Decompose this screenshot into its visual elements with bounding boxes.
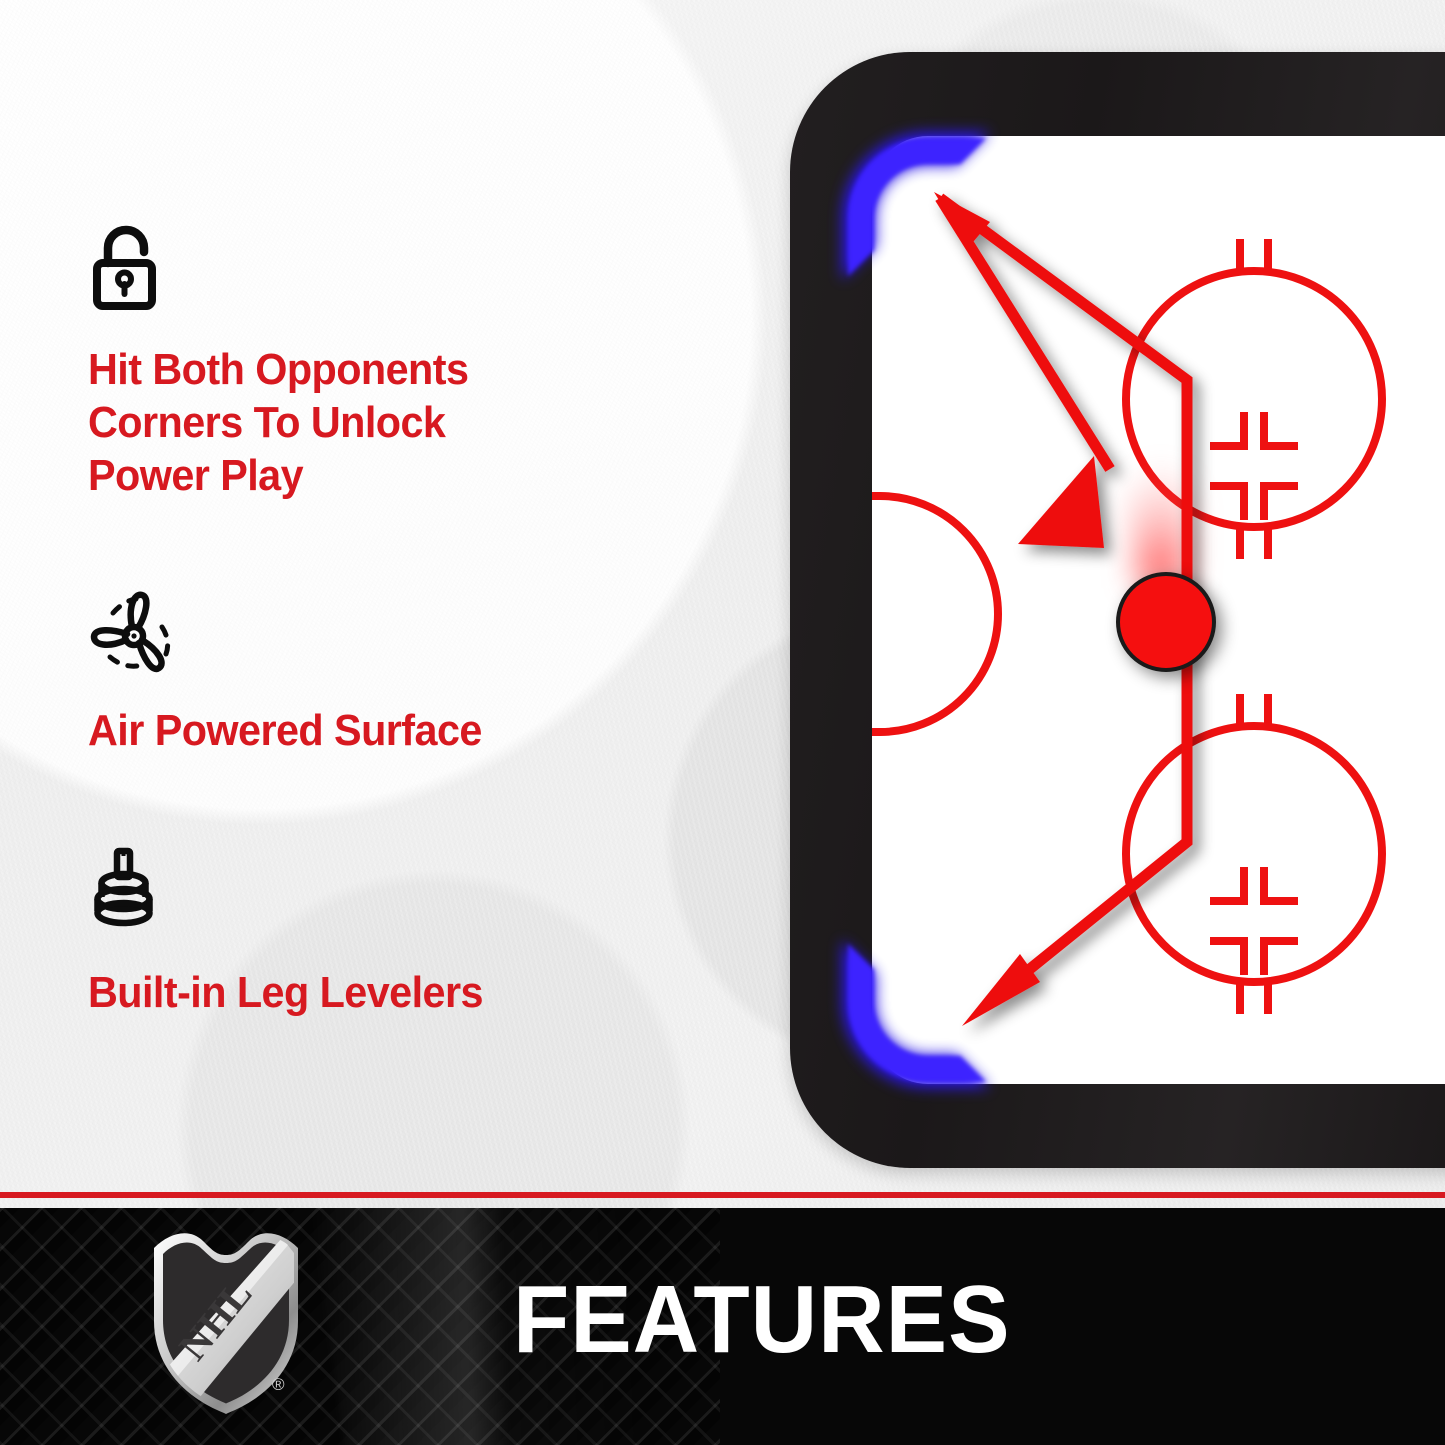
leg-leveler-icon [88,845,708,940]
unlock-icon [88,222,708,317]
list-item-label: Built-in Leg Levelers [88,966,671,1019]
goal-crease [872,496,998,732]
list-item: Hit Both Opponents Corners To Unlock Pow… [88,222,708,503]
faceoff-dot-top [1210,412,1298,520]
list-item: Built-in Leg Levelers [88,845,708,1019]
list-item-label: Air Powered Surface [88,704,671,757]
product-feature-panel: Hit Both Opponents Corners To Unlock Pow… [0,0,1445,1445]
registered-trademark-mark: ® [272,1376,285,1393]
list-item: Air Powered Surface [88,591,708,757]
footer-heading: FEATURES [513,1272,1011,1368]
faceoff-dot-bottom [1210,867,1298,975]
feature-list: Hit Both Opponents Corners To Unlock Pow… [88,222,708,1019]
red-divider-rule [0,1192,1445,1198]
hockey-puck [1118,574,1214,670]
list-item-label: Hit Both Opponents Corners To Unlock Pow… [88,343,671,503]
fan-propeller-icon [88,591,708,678]
air-hockey-table [790,52,1445,1168]
